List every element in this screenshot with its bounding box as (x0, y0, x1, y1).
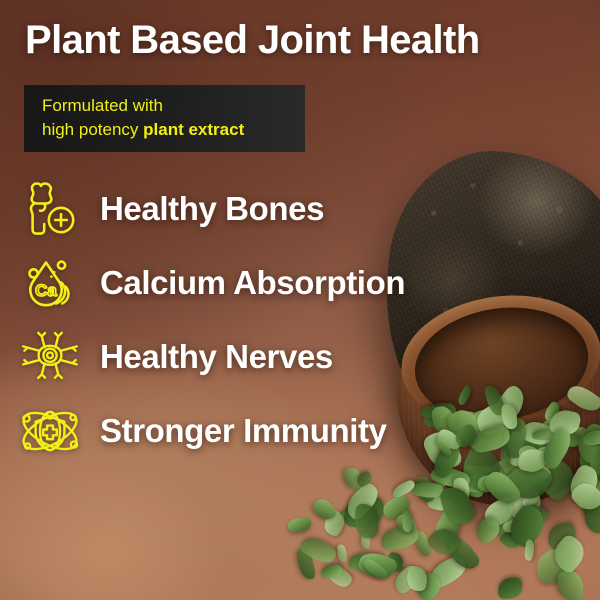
content-layer: Plant Based Joint Health Formulated with… (0, 0, 600, 600)
benefit-row-healthy-bones: Healthy Bones (0, 172, 600, 246)
badge-line-two-prefix: high potency (42, 120, 143, 139)
benefit-row-healthy-nerves: Healthy Nerves (0, 320, 600, 394)
page-title: Plant Based Joint Health (25, 19, 480, 62)
benefit-label-healthy-nerves: Healthy Nerves (100, 338, 333, 376)
poster-canvas: Plant Based Joint Health Formulated with… (0, 0, 600, 600)
calcium-droplet-icon: Ca (0, 254, 100, 312)
immunity-shield-atom-icon (0, 400, 100, 462)
formulation-badge: Formulated with high potency plant extra… (24, 85, 305, 152)
benefit-label-calcium-absorption: Calcium Absorption (100, 264, 405, 302)
benefit-label-stronger-immunity: Stronger Immunity (100, 412, 387, 450)
benefit-label-healthy-bones: Healthy Bones (100, 190, 324, 228)
badge-line-two: high potency plant extract (42, 118, 305, 142)
benefit-row-calcium-absorption: Ca Calcium Absorption (0, 246, 600, 320)
nerve-cell-icon (0, 327, 100, 387)
benefit-row-stronger-immunity: Stronger Immunity (0, 394, 600, 468)
svg-text:Ca: Ca (35, 281, 57, 300)
benefit-list: Healthy Bones Ca Calcium Absorption (0, 172, 600, 468)
badge-line-two-emphasis: plant extract (143, 120, 244, 139)
badge-line-one: Formulated with (42, 94, 305, 118)
bone-joint-icon (0, 180, 100, 238)
